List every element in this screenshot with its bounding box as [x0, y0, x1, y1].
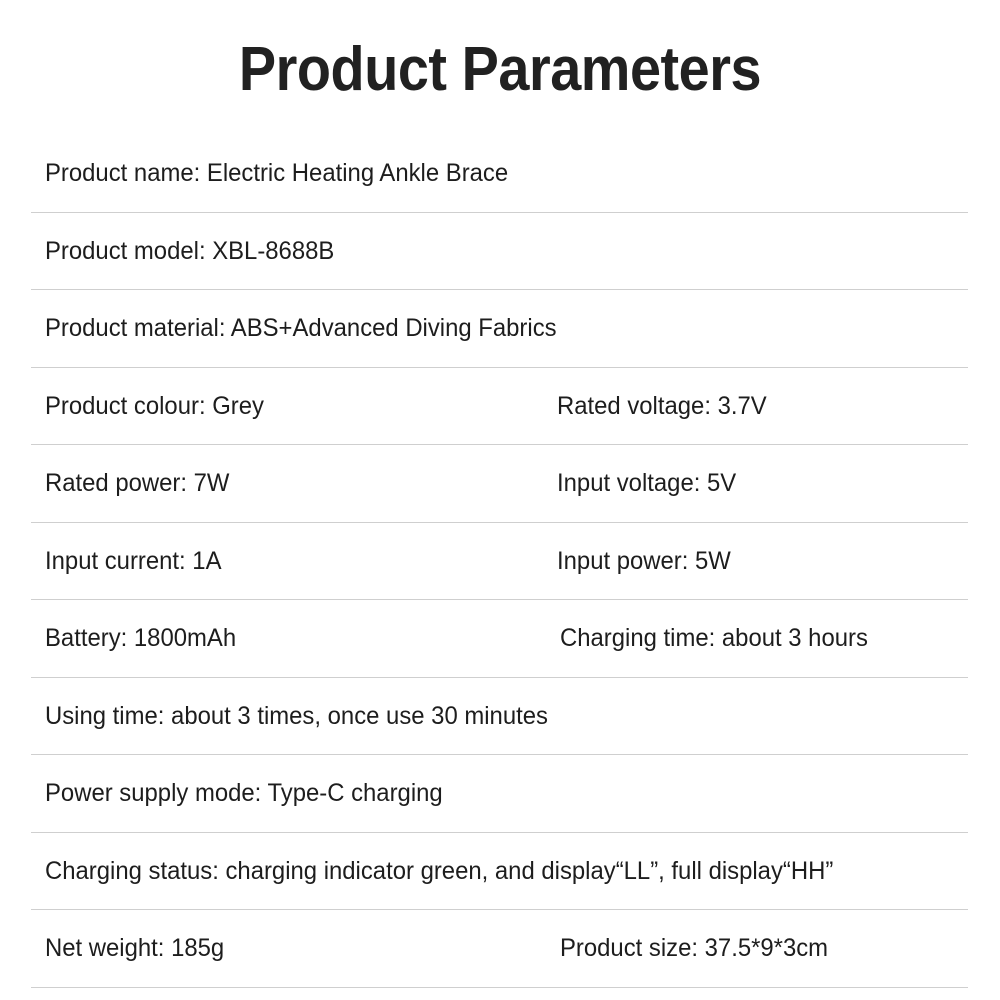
spec-row-7-left: Using time: about 3 times, once use 30 m…	[45, 701, 926, 731]
spec-row-5-right: Input power: 5W	[557, 546, 731, 576]
spec-row-10-right: Product size: 37.5*9*3cm	[560, 933, 828, 963]
spec-row-5-left: Input current: 1A	[45, 546, 222, 576]
spec-row-0-left: Product name: Electric Heating Ankle Bra…	[45, 158, 926, 188]
spec-row-1-left: Product model: XBL-8688B	[45, 236, 926, 266]
spec-row-4-right: Input voltage: 5V	[557, 468, 736, 498]
spec-row-4-left: Rated power: 7W	[45, 468, 229, 498]
spec-row-10-left: Net weight: 185g	[45, 933, 224, 963]
spec-row-6-right: Charging time: about 3 hours	[560, 623, 868, 653]
table-row: Product model: XBL-8688B	[31, 213, 968, 291]
spec-row-6-left: Battery: 1800mAh	[45, 623, 236, 653]
spec-row-9-left: Charging status: charging indicator gree…	[45, 856, 926, 886]
table-row: Product material: ABS+Advanced Diving Fa…	[31, 290, 968, 368]
table-row: Charging status: charging indicator gree…	[31, 833, 968, 911]
spec-row-8-left: Power supply mode: Type-C charging	[45, 778, 926, 808]
spec-row-2-left: Product material: ABS+Advanced Diving Fa…	[45, 313, 926, 343]
table-row: Rated power: 7W Input voltage: 5V	[31, 445, 968, 523]
spec-row-3-left: Product colour: Grey	[45, 391, 264, 421]
table-row: Product name: Electric Heating Ankle Bra…	[31, 135, 968, 213]
page-title: Product Parameters	[50, 33, 950, 107]
table-row: Power supply mode: Type-C charging	[31, 755, 968, 833]
table-row: Using time: about 3 times, once use 30 m…	[31, 678, 968, 756]
table-row: Input current: 1A Input power: 5W	[31, 523, 968, 601]
table-row: Battery: 1800mAh Charging time: about 3 …	[31, 600, 968, 678]
table-row: Net weight: 185g Product size: 37.5*9*3c…	[31, 910, 968, 988]
product-parameters-page: Product Parameters Product name: Electri…	[0, 0, 1000, 1000]
spec-table: Product name: Electric Heating Ankle Bra…	[31, 135, 968, 988]
table-row: Product colour: Grey Rated voltage: 3.7V	[31, 368, 968, 446]
spec-row-3-right: Rated voltage: 3.7V	[557, 391, 767, 421]
